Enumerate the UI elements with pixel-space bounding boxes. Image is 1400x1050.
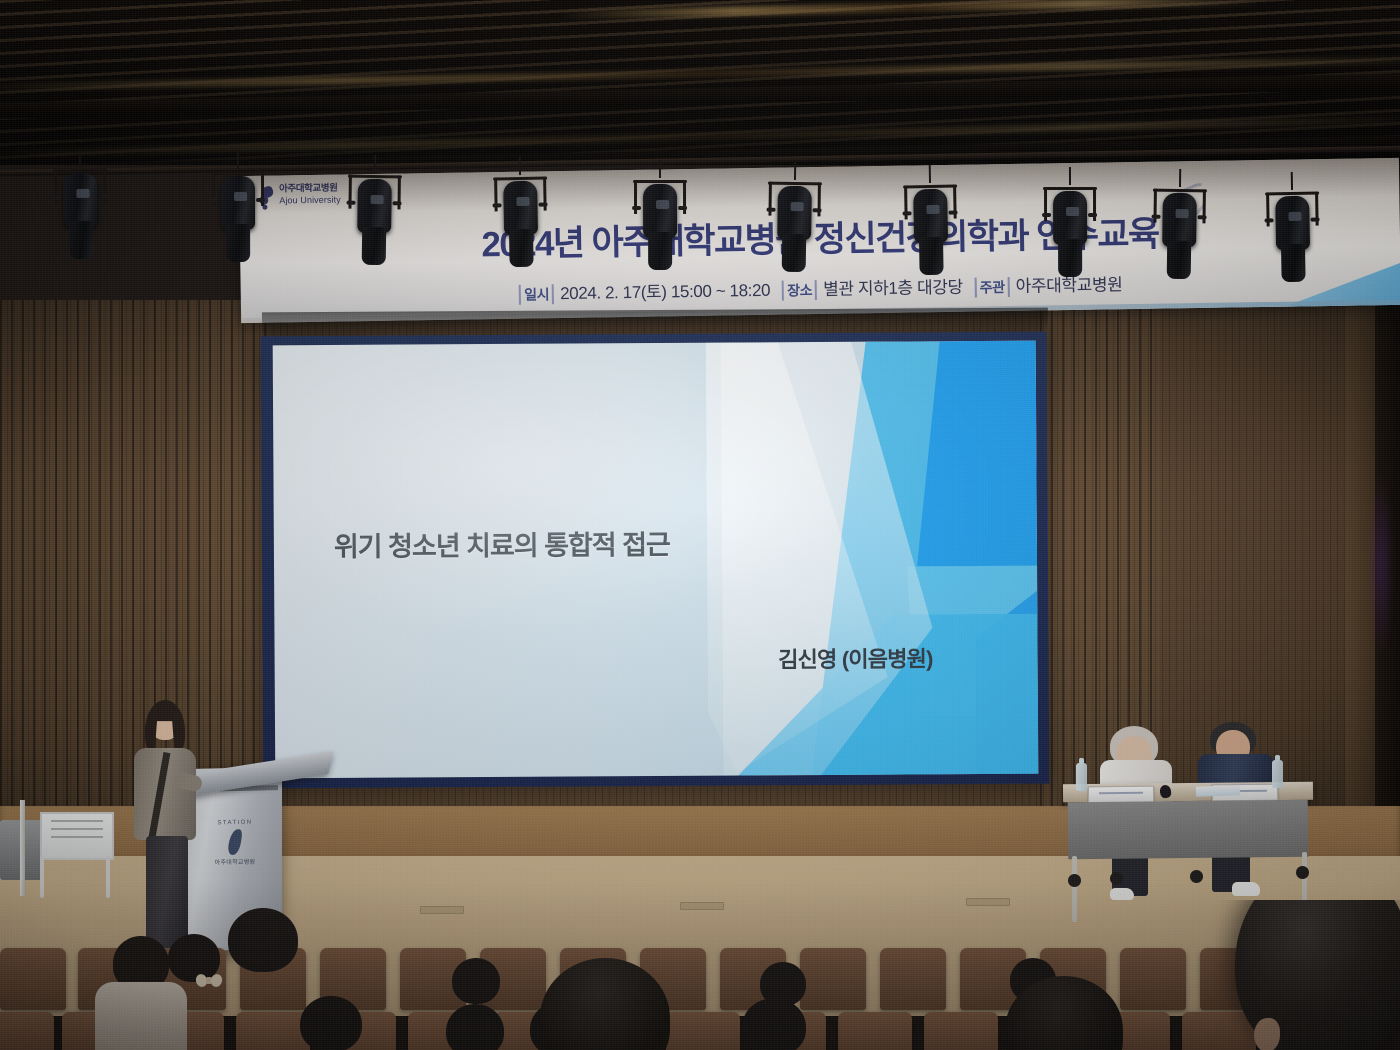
auditorium-photo: 아주대학교병원 Ajou University 2024년 아주대학교병원 정신… xyxy=(0,0,1400,1050)
spotlight-knob xyxy=(256,198,265,202)
spotlight-barrel xyxy=(1167,241,1192,279)
projection-screen: 위기 청소년 치료의 통합적 접근 김신영 (이음병원) xyxy=(261,332,1050,789)
spotlight-hanger xyxy=(1069,167,1071,185)
spotlight-yoke xyxy=(211,172,265,175)
spotlight-barrel xyxy=(1058,239,1082,277)
spotlight-hanger xyxy=(1179,169,1181,187)
spotlight-lens xyxy=(1288,211,1301,220)
audience-seat xyxy=(1182,1012,1256,1050)
slide-title: 위기 청소년 치료의 통합적 접근 xyxy=(334,523,670,564)
panel-table-caster xyxy=(1110,872,1123,885)
stage-spotlight xyxy=(640,176,680,272)
spotlight-knob xyxy=(678,206,687,210)
spotlight-knob xyxy=(1265,218,1274,222)
audience-head xyxy=(228,908,298,972)
spotlight-knob xyxy=(347,200,356,204)
spotlight-body xyxy=(357,178,392,232)
audience-seating-area xyxy=(0,900,1400,1050)
water-bottle-right xyxy=(1272,760,1283,788)
spotlight-lens xyxy=(926,205,939,214)
stage-spotlight xyxy=(1272,187,1314,284)
banner-meta-host-tag: 주관 xyxy=(975,277,1010,298)
spotlight-lens xyxy=(234,192,247,201)
panel-table-caster xyxy=(1068,874,1081,887)
spotlight-barrel xyxy=(648,232,672,270)
banner-meta-place: 장소 별관 지하1층 대강당 xyxy=(782,273,963,301)
spotlight-lens xyxy=(791,202,804,211)
spotlight-body xyxy=(1162,193,1197,247)
audience-seat xyxy=(236,1012,310,1050)
banner-meta-date-value: 2024. 2. 17(토) 15:00 ~ 18:20 xyxy=(560,276,770,304)
audience-ear xyxy=(1254,1018,1280,1050)
audience-head xyxy=(300,996,362,1050)
audience-head xyxy=(446,1004,504,1050)
lectern-logo: STATION 아주대학교병원 xyxy=(196,819,274,877)
spotlight-barrel xyxy=(1281,243,1306,281)
spotlight-knob xyxy=(53,195,62,199)
spotlight-body xyxy=(913,189,948,244)
spotlight-lens xyxy=(1066,207,1079,216)
spotlight-knob xyxy=(1198,216,1207,220)
spotlight-barrel xyxy=(226,224,250,262)
spotlight-yoke xyxy=(1265,191,1319,195)
spotlight-knob xyxy=(1042,213,1051,217)
ceiling-shadow xyxy=(0,0,1400,165)
spotlight-knob xyxy=(1088,213,1097,217)
panel-table-caster xyxy=(1296,866,1309,879)
spotlight-body xyxy=(503,181,538,236)
stage-spotlight xyxy=(218,168,258,264)
water-bottle-left xyxy=(1076,763,1087,791)
spotlight-knob xyxy=(903,211,912,215)
audience-seat xyxy=(0,948,66,1010)
stage-spotlight xyxy=(60,165,102,262)
stage-spotlight xyxy=(1159,185,1200,282)
presentation-slide: 위기 청소년 치료의 통합적 접근 김신영 (이음병원) xyxy=(273,341,1039,779)
spotlight-hanger xyxy=(237,152,239,170)
spotlight-lens xyxy=(1176,209,1189,218)
slide-author: 김신영 (이음병원) xyxy=(778,641,933,674)
stage-spotlight xyxy=(1050,183,1090,279)
spotlight-lens xyxy=(656,200,669,209)
spotlight-hanger xyxy=(79,149,81,167)
spotlight-barrel xyxy=(362,226,387,264)
spotlight-barrel xyxy=(782,234,807,272)
banner-meta-place-value: 별관 지하1층 대강당 xyxy=(823,273,963,300)
audience-head xyxy=(452,958,500,1004)
spotlight-barrel xyxy=(509,229,534,267)
spotlight-body xyxy=(221,176,255,230)
spotlight-hanger xyxy=(1291,172,1293,190)
spotlight-body xyxy=(1053,191,1087,245)
spotlight-yoke xyxy=(348,174,402,178)
spotlight-lens xyxy=(76,189,89,198)
panelist-left-shoe xyxy=(1110,888,1134,900)
lectern-logo-bottom-text: 아주대학교병원 xyxy=(196,856,274,867)
spotlight-hanger xyxy=(659,160,661,178)
audience-head xyxy=(742,998,806,1050)
banner-meta-host: 주관 아주대학교병원 xyxy=(974,270,1122,297)
spotlight-knob xyxy=(1152,215,1161,219)
banner-meta-date: 일시 2024. 2. 17(토) 15:00 ~ 18:20 xyxy=(519,276,770,305)
audience-seat xyxy=(880,948,946,1010)
audience-shoulders xyxy=(95,982,187,1050)
spotlight-knob xyxy=(1311,217,1320,221)
hair-bow xyxy=(196,974,222,987)
spotlight-hanger xyxy=(519,157,521,175)
audience-seat xyxy=(1120,948,1186,1010)
panel-table-skirt xyxy=(1068,800,1309,860)
spotlight-knob xyxy=(813,209,822,213)
spotlight-body xyxy=(777,186,812,240)
spotlight-knob xyxy=(493,204,502,208)
audience-person-foreground-left xyxy=(95,936,185,1050)
spotlight-knob xyxy=(99,195,108,199)
spotlight-knob xyxy=(210,198,219,202)
stage-spotlight xyxy=(774,178,815,275)
spotlight-yoke xyxy=(633,180,687,183)
spotlight-lens xyxy=(371,195,384,204)
spotlight-hanger xyxy=(929,165,931,183)
spotlight-knob xyxy=(632,206,641,210)
spotlight-barrel xyxy=(69,221,94,259)
lectern-logo-mark xyxy=(227,828,243,855)
stage-spotlight xyxy=(354,170,395,267)
stage-side-board-legs xyxy=(38,856,112,898)
spotlight-body xyxy=(643,184,677,238)
stage-spotlight xyxy=(500,173,542,270)
spotlight-knob xyxy=(949,210,958,214)
audience-seat xyxy=(838,1012,912,1050)
audience-seat xyxy=(0,1012,54,1050)
ajou-logo-english: Ajou University xyxy=(279,196,341,206)
spotlight-knob xyxy=(393,201,402,205)
spotlight-knob xyxy=(767,208,776,212)
stage-side-board xyxy=(40,812,114,860)
documents-on-table xyxy=(1196,785,1240,797)
ceiling-slats xyxy=(0,0,1400,165)
banner-meta-place-tag: 장소 xyxy=(782,280,817,301)
spotlight-hanger xyxy=(374,155,376,173)
banner-meta-date-tag: 일시 xyxy=(519,284,554,305)
spotlight-hanger xyxy=(794,162,796,180)
audience-seat xyxy=(666,1012,740,1050)
panel-table-caster xyxy=(1190,870,1203,883)
audience-seat xyxy=(800,948,866,1010)
stage-side-pole xyxy=(20,800,25,896)
spotlight-body xyxy=(63,173,98,228)
stage-spotlight xyxy=(910,180,952,277)
ajou-logo-korean: 아주대학교병원 xyxy=(279,184,338,195)
lectern-logo-top-text: STATION xyxy=(196,819,274,827)
spotlight-body xyxy=(1275,195,1310,250)
panelist-right-shoe xyxy=(1232,882,1260,896)
spotlight-yoke xyxy=(903,184,957,188)
spotlight-knob xyxy=(539,203,548,207)
spotlight-lens xyxy=(516,197,529,206)
audience-seat xyxy=(924,1012,998,1050)
spotlight-barrel xyxy=(919,237,944,275)
